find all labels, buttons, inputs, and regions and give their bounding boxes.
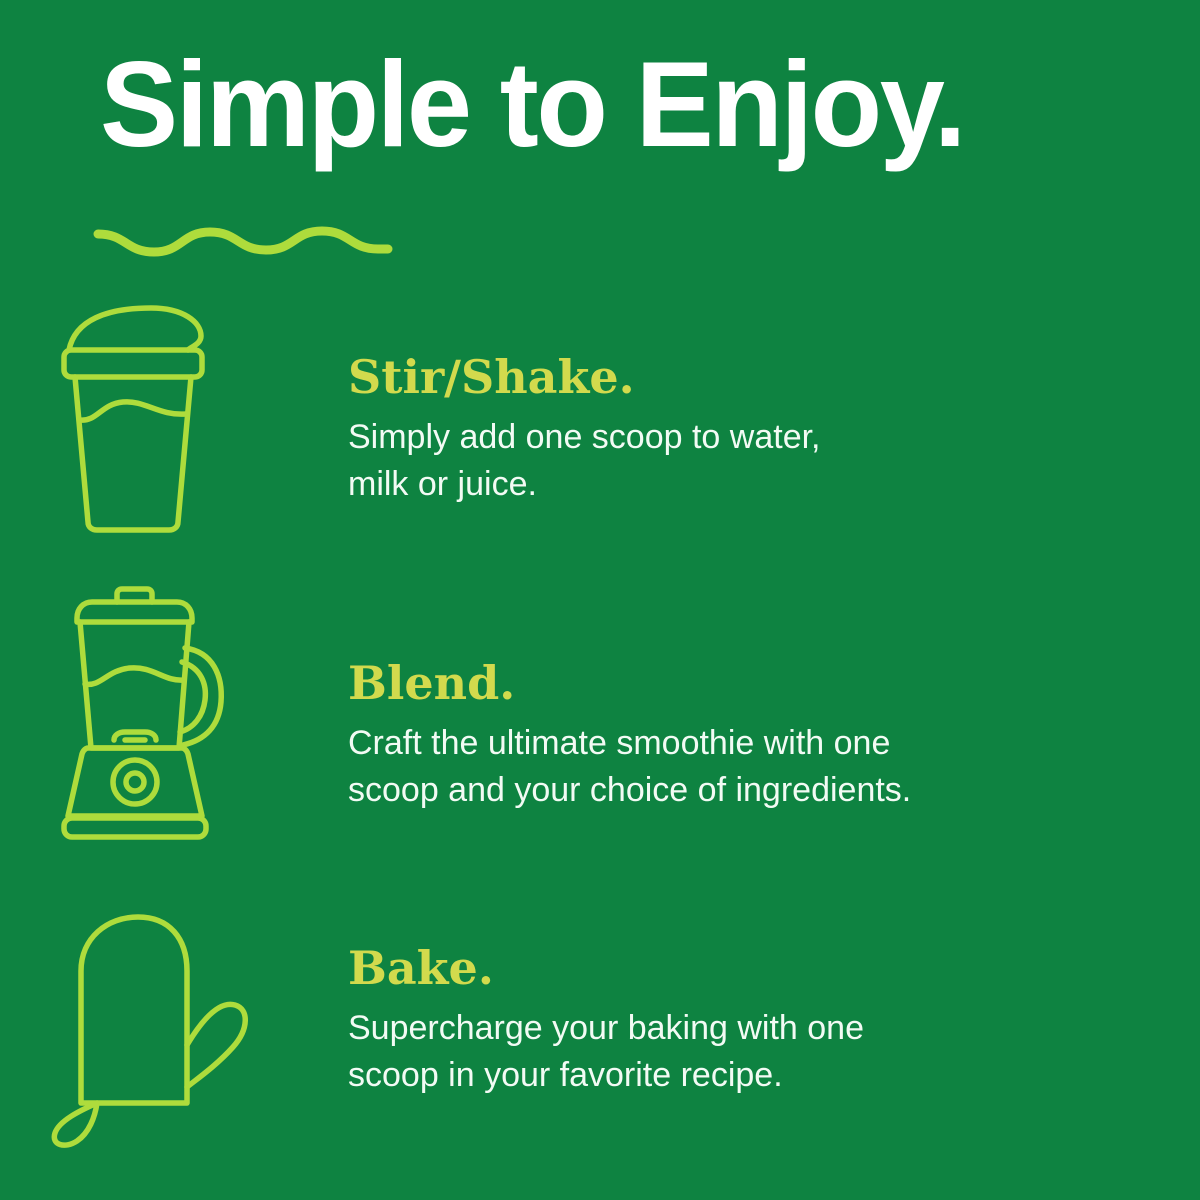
step-title-blend: Blend. — [348, 658, 1160, 708]
step-body-line: scoop and your choice of ingredients. — [348, 767, 1048, 814]
shaker-cup-icon — [55, 300, 225, 535]
step-text-stir-shake: Stir/Shake. Simply add one scoop to wate… — [348, 300, 1200, 508]
step-body-stir-shake: Simply add one scoop to water, milk or j… — [348, 414, 1048, 508]
shaker-cup-icon-cell — [0, 300, 348, 535]
step-text-bake: Bake. Supercharge your baking with one s… — [348, 905, 1200, 1099]
step-body-line: milk or juice. — [348, 461, 1048, 508]
blender-icon — [55, 580, 240, 845]
step-title-bake: Bake. — [348, 943, 1160, 993]
step-title-stir-shake: Stir/Shake. — [348, 352, 1160, 402]
step-row-blend: Blend. Craft the ultimate smoothie with … — [0, 580, 1200, 860]
oven-mitt-icon-cell — [0, 905, 348, 1150]
wavy-divider — [92, 218, 402, 260]
step-body-line: scoop in your favorite recipe. — [348, 1052, 1048, 1099]
step-text-blend: Blend. Craft the ultimate smoothie with … — [348, 580, 1200, 814]
oven-mitt-icon — [45, 905, 260, 1150]
blender-icon-cell — [0, 580, 348, 845]
step-row-stir-shake: Stir/Shake. Simply add one scoop to wate… — [0, 300, 1200, 550]
step-body-blend: Craft the ultimate smoothie with one sco… — [348, 720, 1048, 814]
step-body-bake: Supercharge your baking with one scoop i… — [348, 1005, 1048, 1099]
step-body-line: Craft the ultimate smoothie with one — [348, 720, 1048, 767]
step-row-bake: Bake. Supercharge your baking with one s… — [0, 905, 1200, 1155]
step-body-line: Simply add one scoop to water, — [348, 414, 1048, 461]
poster-canvas: Simple to Enjoy. Stir/Sha — [0, 0, 1200, 1200]
step-body-line: Supercharge your baking with one — [348, 1005, 1048, 1052]
page-title: Simple to Enjoy. — [100, 44, 1108, 164]
